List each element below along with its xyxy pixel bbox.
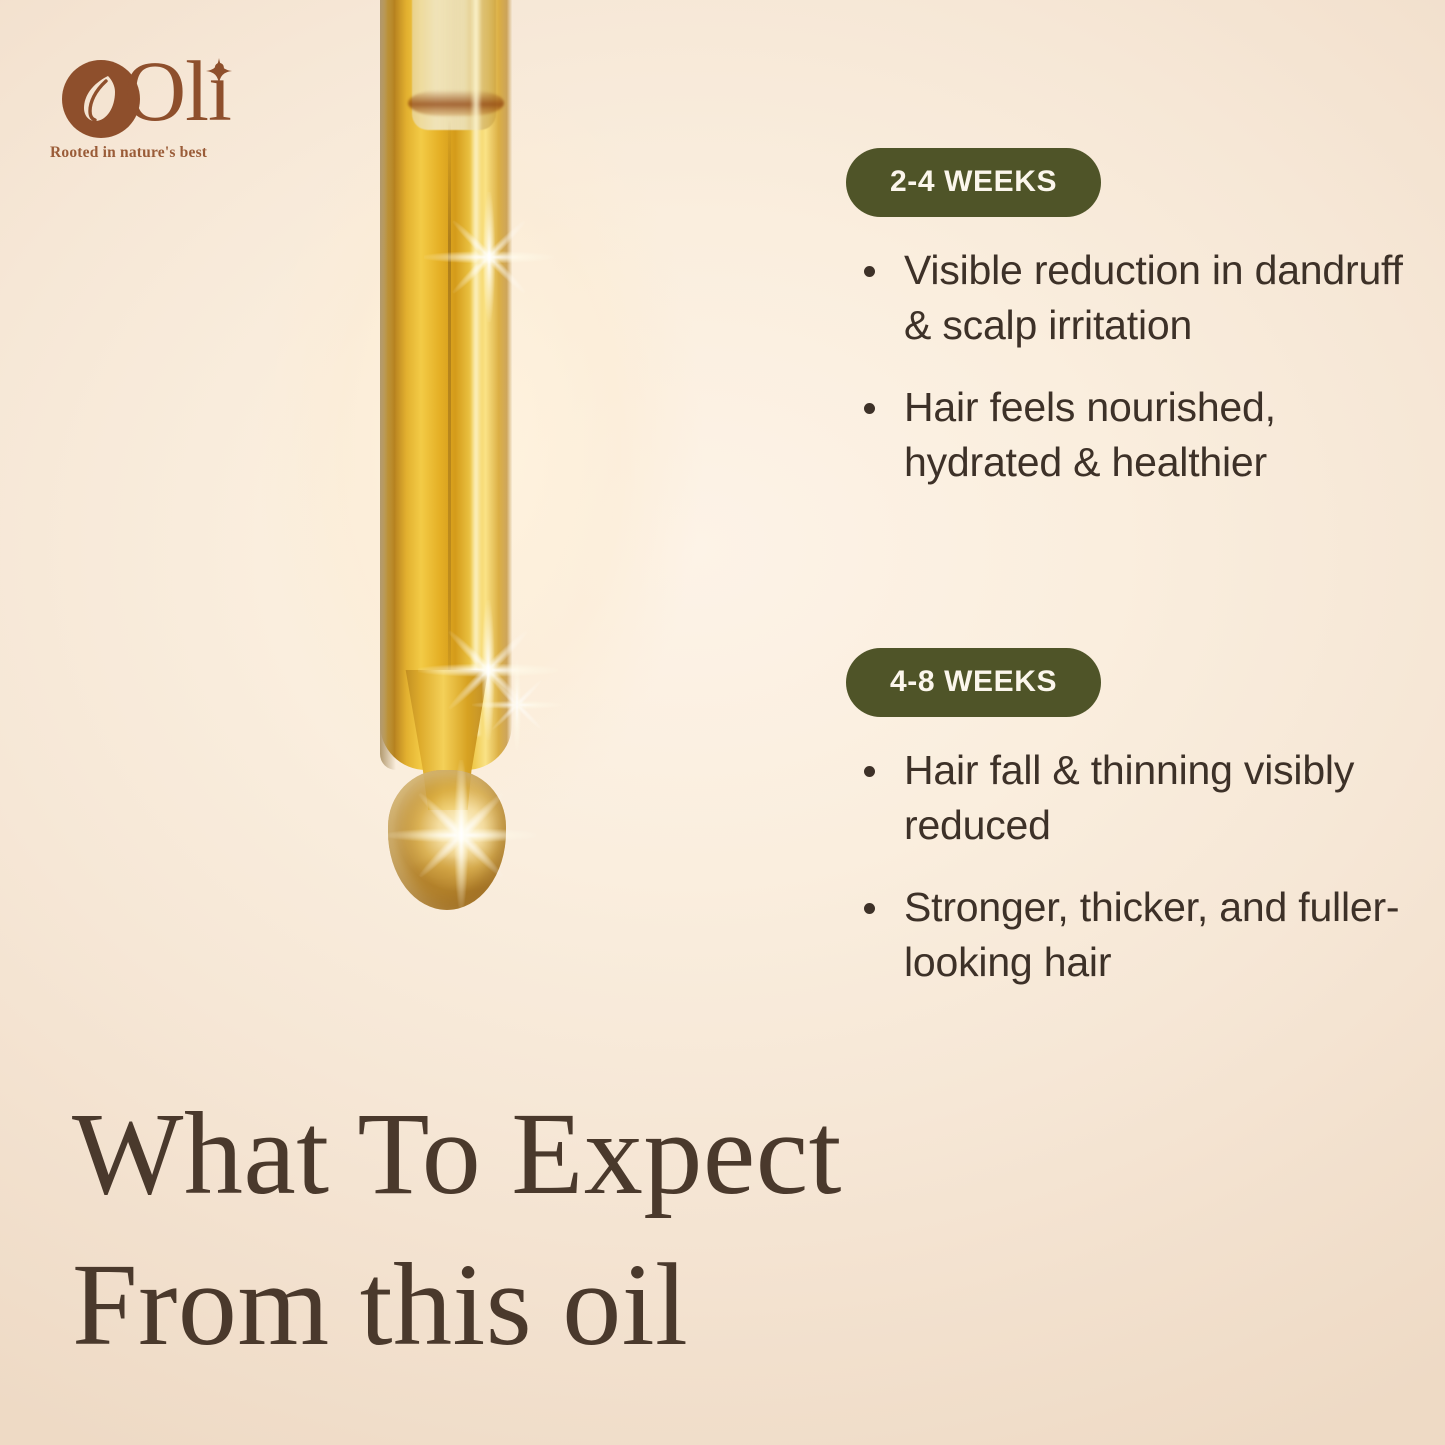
four-point-sparkle-icon: [206, 58, 232, 84]
page-title-line-2: From this oil: [72, 1229, 972, 1380]
phase-block-4-8-weeks: 4-8 WEEKS Hair fall & thinning visibly r…: [846, 648, 1406, 989]
list-item: Visible reduction in dandruff & scalp ir…: [846, 243, 1406, 352]
page-title: What To Expect From this oil: [72, 1078, 972, 1380]
oil-dropper-image: [352, 0, 542, 950]
oil-droplet: [388, 770, 506, 910]
benefit-text: Visible reduction in dandruff & scalp ir…: [904, 247, 1403, 348]
pipette-left-edge: [380, 0, 396, 770]
benefit-text: Stronger, thicker, and fuller-looking ha…: [904, 884, 1399, 985]
page-title-line-1: What To Expect: [72, 1078, 972, 1229]
bullet-dot-icon: [864, 403, 875, 414]
list-item: Hair fall & thinning visibly reduced: [846, 743, 1406, 852]
bullet-dot-icon: [864, 903, 875, 914]
status-badge-2-4-weeks[interactable]: 2-4 WEEKS: [846, 148, 1101, 217]
oil-meniscus: [408, 90, 504, 116]
brand-tagline: Rooted in nature's best: [50, 144, 207, 162]
brand-logo[interactable]: Oli Rooted in nature's best: [46, 52, 286, 138]
phase-block-2-4-weeks: 2-4 WEEKS Visible reduction in dandruff …: [846, 148, 1406, 489]
benefit-text: Hair feels nourished, hydrated & healthi…: [904, 384, 1276, 485]
status-badge-4-8-weeks[interactable]: 4-8 WEEKS: [846, 648, 1101, 717]
benefit-text: Hair fall & thinning visibly reduced: [904, 747, 1354, 848]
bullet-dot-icon: [864, 766, 875, 777]
list-item: Stronger, thicker, and fuller-looking ha…: [846, 880, 1406, 989]
bullet-dot-icon: [864, 266, 875, 277]
benefit-list-2-4-weeks: Visible reduction in dandruff & scalp ir…: [846, 243, 1406, 489]
pipette-highlight: [470, 0, 482, 736]
benefit-list-4-8-weeks: Hair fall & thinning visibly reduced Str…: [846, 743, 1406, 989]
pipette-inner-line: [448, 120, 451, 720]
logo-mark: Oli: [46, 52, 246, 138]
poster-canvas: Oli Rooted in nature's best 2-4 WEEKS: [0, 0, 1445, 1445]
list-item: Hair feels nourished, hydrated & healthi…: [846, 380, 1406, 489]
